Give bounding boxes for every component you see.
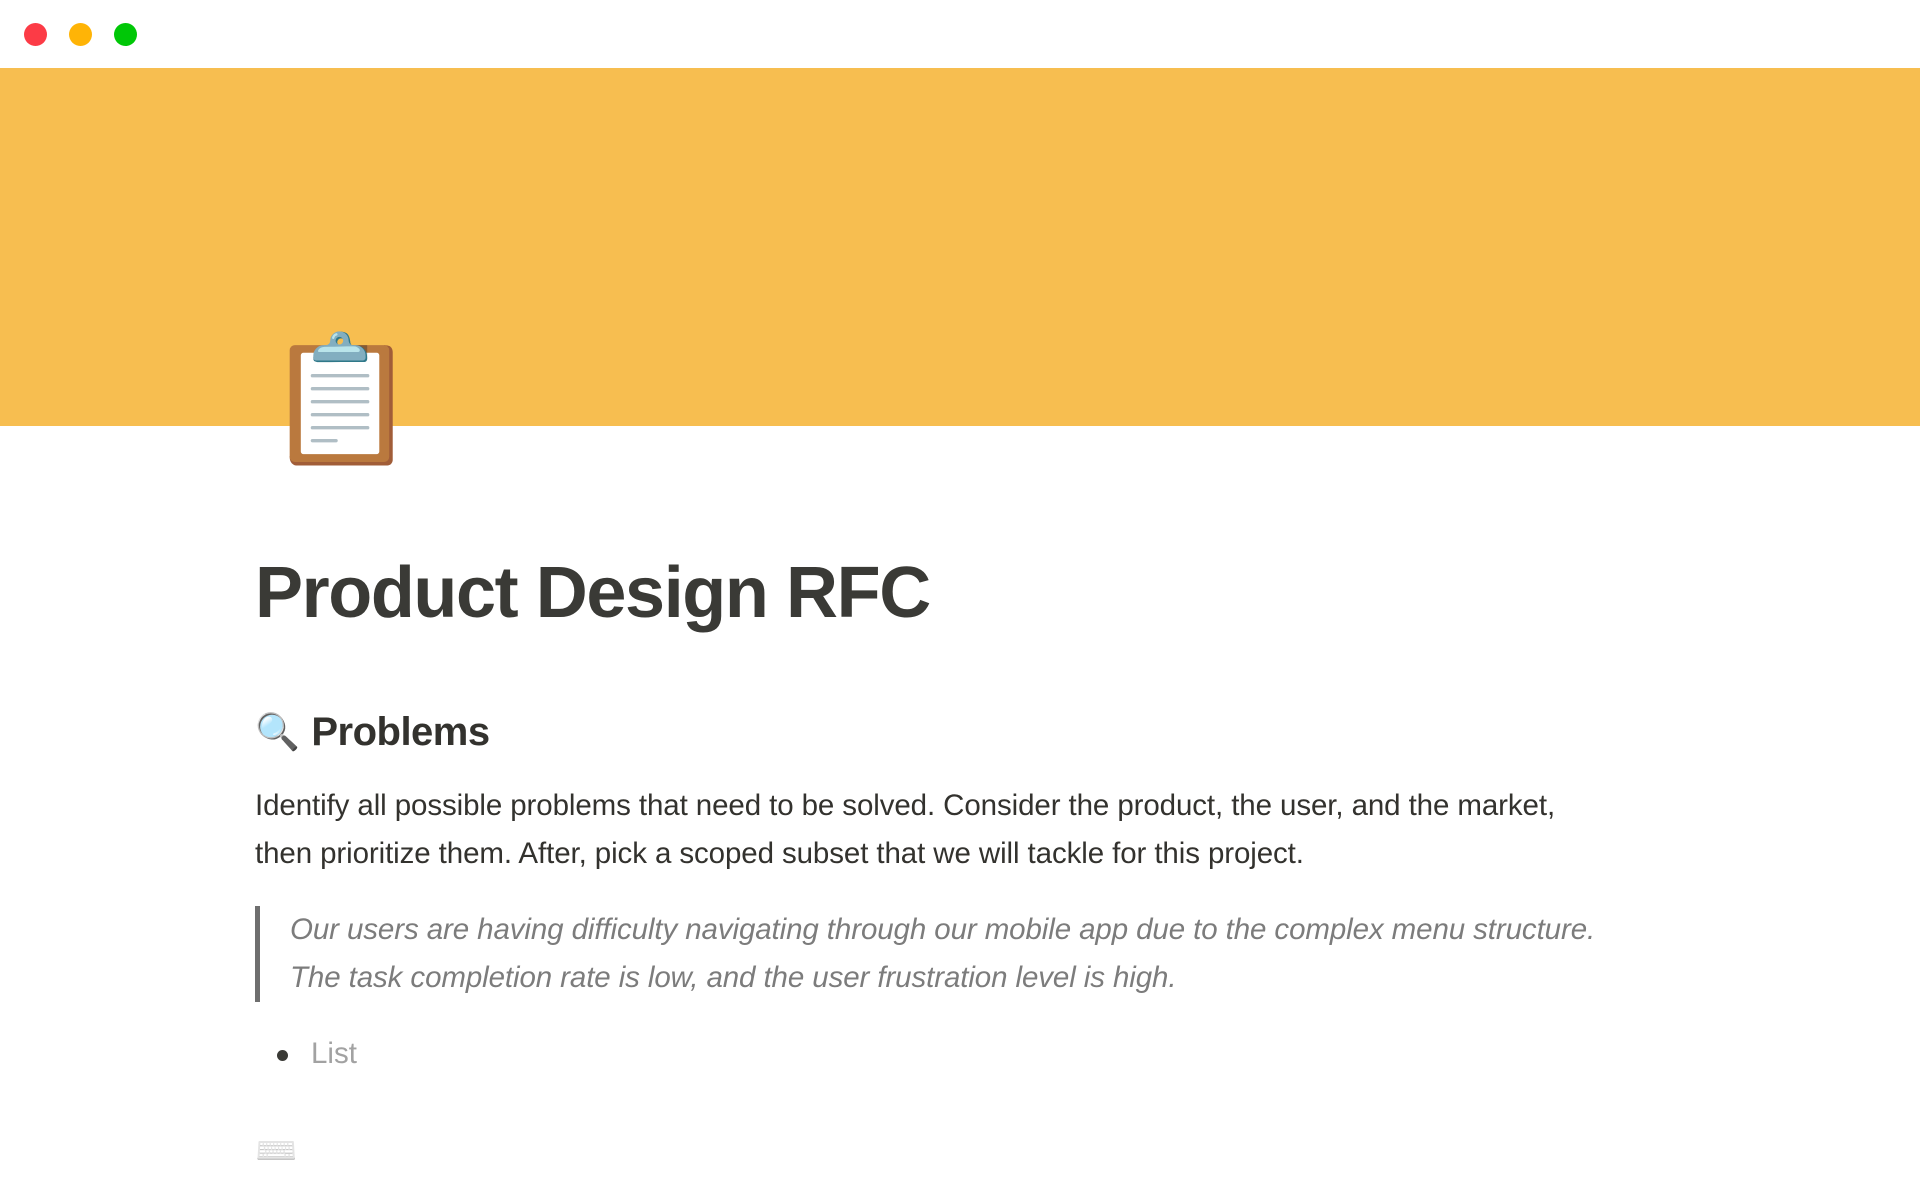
close-window-button[interactable]	[24, 23, 47, 46]
traffic-light-group	[24, 23, 137, 46]
minimize-window-button[interactable]	[69, 23, 92, 46]
page-title[interactable]: Product Design RFC	[255, 554, 1800, 632]
bullet-list: List	[255, 1032, 1800, 1076]
document-body: Product Design RFC 🔍 Problems Identify a…	[0, 426, 1920, 1174]
section-heading-label: Problems	[311, 708, 489, 756]
maximize-window-button[interactable]	[114, 23, 137, 46]
list-item[interactable]: List	[255, 1032, 1800, 1076]
section-paragraph[interactable]: Identify all possible problems that need…	[255, 782, 1600, 878]
magnifying-glass-icon: 🔍	[255, 708, 299, 756]
window-titlebar	[0, 0, 1920, 68]
example-blockquote[interactable]: Our users are having difficulty navigati…	[255, 906, 1625, 1002]
section-heading-problems[interactable]: 🔍 Problems	[255, 708, 1800, 756]
app-window: 📋 Product Design RFC 🔍 Problems Identify…	[0, 0, 1920, 1200]
next-block-partial[interactable]: ⌨️	[255, 1134, 1800, 1174]
keyboard-icon: ⌨️	[255, 1134, 297, 1168]
